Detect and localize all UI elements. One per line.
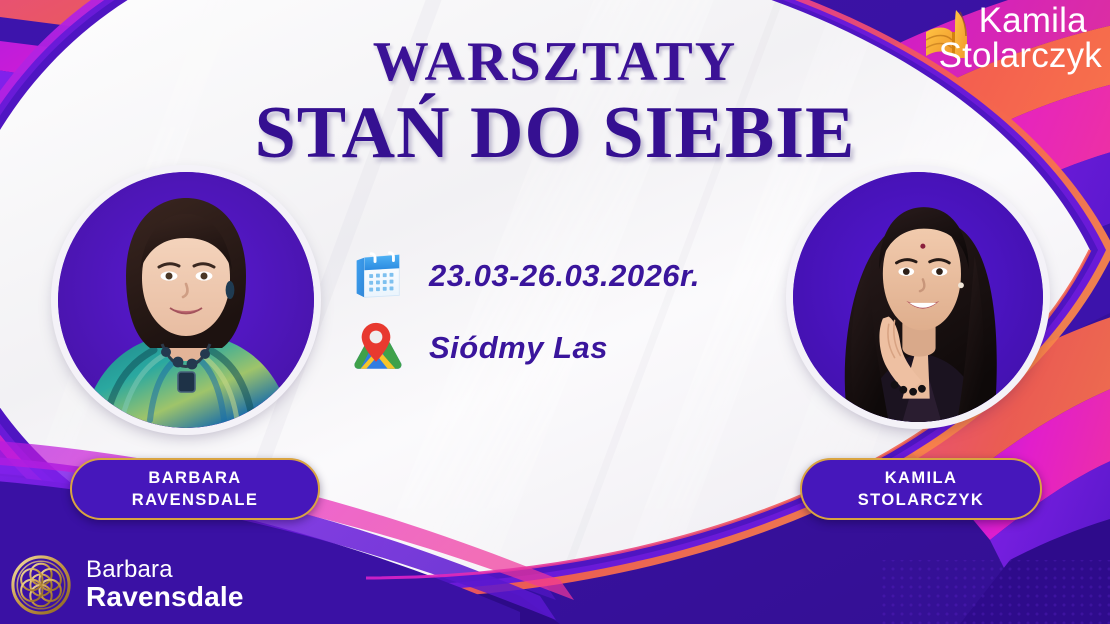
speaker-name-barbara-line2: RAVENSDALE bbox=[132, 491, 258, 509]
brand-logo-barbara[interactable]: Barbara Ravensdale bbox=[10, 554, 244, 616]
avatar-barbara bbox=[58, 172, 314, 428]
brand-kamila-line2: Stolarczyk bbox=[939, 38, 1102, 73]
speaker-name-kamila-line1: KAMILA bbox=[885, 469, 958, 487]
calendar-icon bbox=[345, 245, 407, 307]
event-date-text: 23.03-26.03.2026r. bbox=[429, 258, 700, 294]
brand-barbara-text: Barbara Ravensdale bbox=[86, 558, 244, 611]
event-date-row: 23.03-26.03.2026r. bbox=[345, 240, 700, 312]
brand-logo-kamila[interactable]: Kamila Stolarczyk bbox=[922, 4, 1102, 73]
speaker-name-kamila-line2: STOLARCZYK bbox=[858, 491, 984, 509]
speaker-name-barbara: BARBARA RAVENSDALE bbox=[132, 467, 258, 511]
event-details: 23.03-26.03.2026r. Siódmy Las bbox=[345, 240, 700, 384]
speaker-name-badge-kamila[interactable]: KAMILA STOLARCZYK bbox=[800, 458, 1042, 520]
brand-barbara-line1: Barbara bbox=[86, 558, 244, 582]
speaker-name-badge-barbara[interactable]: BARBARA RAVENSDALE bbox=[70, 458, 320, 520]
avatar-kamila bbox=[793, 172, 1043, 422]
seed-of-life-icon bbox=[10, 554, 72, 616]
poster-canvas: WARSZTATY STAŃ DO SIEBIE bbox=[0, 0, 1110, 624]
speaker-name-barbara-line1: BARBARA bbox=[148, 469, 241, 487]
kamila-stolarczyk-portrait bbox=[793, 172, 1043, 422]
brand-kamila-line1: Kamila bbox=[979, 4, 1102, 38]
event-location-row: Siódmy Las bbox=[345, 312, 700, 384]
brand-barbara-line2: Ravensdale bbox=[86, 583, 244, 612]
event-location-text: Siódmy Las bbox=[429, 330, 608, 366]
barbara-ravensdale-portrait bbox=[58, 172, 314, 428]
speaker-name-kamila: KAMILA STOLARCZYK bbox=[858, 467, 984, 511]
map-pin-icon bbox=[345, 317, 407, 379]
brand-kamila-text: Kamila Stolarczyk bbox=[979, 4, 1102, 73]
